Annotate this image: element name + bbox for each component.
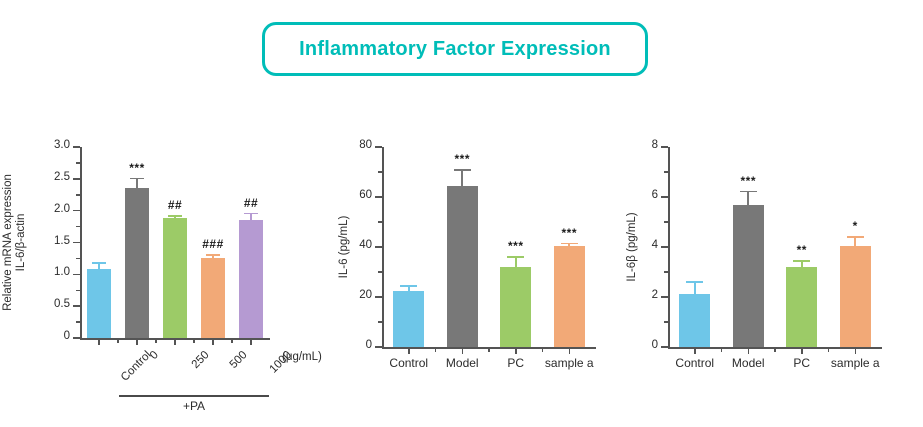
error-bar-cap xyxy=(168,215,181,217)
significance-marker: *** xyxy=(740,174,756,188)
chart-panel-il6-mrna: 00.51.01.52.02.53.0Control***0##250###50… xyxy=(18,130,318,420)
y-tick-minor xyxy=(664,171,668,173)
y-tick-minor xyxy=(76,162,80,164)
x-axis-unit-label: (μg/mL) xyxy=(282,351,322,363)
x-tick-minor xyxy=(117,339,119,343)
y-tick xyxy=(375,146,382,148)
y-tick xyxy=(661,346,668,348)
error-bar-cap xyxy=(92,262,105,264)
y-tick-minor xyxy=(76,321,80,323)
significance-marker: ## xyxy=(244,196,258,210)
error-bar-cap xyxy=(206,254,219,256)
y-tick xyxy=(661,196,668,198)
plot-area-3: 02468Control***Model**PC*sample aIL-6β (… xyxy=(668,147,882,347)
y-axis xyxy=(382,147,384,347)
x-tick xyxy=(462,348,464,354)
y-tick xyxy=(73,242,80,244)
plot-area-1: 00.51.01.52.02.53.0Control***0##250###50… xyxy=(80,147,270,338)
y-tick-minor xyxy=(378,221,382,223)
error-bar-cap xyxy=(847,236,864,238)
bar xyxy=(201,258,225,338)
error-bar-line xyxy=(694,281,696,294)
y-tick-minor xyxy=(378,271,382,273)
y-axis xyxy=(668,147,670,347)
significance-marker: *** xyxy=(129,161,145,175)
bar xyxy=(786,267,817,347)
y-tick xyxy=(661,246,668,248)
y-tick xyxy=(375,296,382,298)
x-tick xyxy=(212,339,214,345)
y-tick xyxy=(661,146,668,148)
x-tick-minor xyxy=(774,348,776,352)
y-tick-label: 1.5 xyxy=(22,235,70,247)
bar xyxy=(125,188,149,338)
x-axis-label: PC xyxy=(793,356,810,370)
y-axis-label-line2: IL-6/β-actin xyxy=(15,147,28,338)
y-tick xyxy=(73,337,80,339)
error-bar-cap xyxy=(244,213,257,215)
x-tick xyxy=(136,339,138,345)
group-bracket-line xyxy=(119,395,269,397)
y-tick xyxy=(73,274,80,276)
bar xyxy=(393,291,424,347)
significance-marker: * xyxy=(853,219,858,233)
x-axis-label: 500 xyxy=(228,349,250,371)
x-axis-label: sample a xyxy=(831,356,880,370)
error-bar-cap xyxy=(686,281,703,283)
x-tick-minor xyxy=(231,339,233,343)
error-bar-cap xyxy=(400,285,417,287)
x-axis-label: sample a xyxy=(545,356,594,370)
page-title: Inflammatory Factor Expression xyxy=(299,38,611,61)
x-tick xyxy=(569,348,571,354)
error-bar-line xyxy=(461,169,463,186)
x-tick xyxy=(515,348,517,354)
y-axis-label: IL-6 (pg/mL) xyxy=(338,147,350,347)
y-tick-label: 0.5 xyxy=(22,298,70,310)
y-axis-label: Relative mRNA expressionIL-6/β-actin xyxy=(2,147,28,338)
bar xyxy=(87,269,111,338)
x-axis-label: PC xyxy=(507,356,524,370)
y-tick xyxy=(375,196,382,198)
bar xyxy=(239,220,263,338)
y-tick-minor xyxy=(378,321,382,323)
significance-marker: ** xyxy=(797,243,807,257)
y-axis xyxy=(80,147,82,338)
y-tick xyxy=(375,246,382,248)
y-tick-label: 1.0 xyxy=(22,266,70,278)
y-tick xyxy=(73,305,80,307)
bar xyxy=(733,205,764,347)
y-axis-label-line1: Relative mRNA expression xyxy=(2,147,15,338)
x-tick-minor xyxy=(542,348,544,352)
x-axis-label: Model xyxy=(446,356,479,370)
x-tick xyxy=(174,339,176,345)
y-tick-minor xyxy=(76,290,80,292)
x-tick-minor xyxy=(193,339,195,343)
x-tick xyxy=(801,348,803,354)
y-tick-minor xyxy=(664,321,668,323)
y-tick-minor xyxy=(378,171,382,173)
significance-marker: ## xyxy=(168,198,182,212)
chart-panel-il6beta-protein: 02468Control***Model**PC*sample aIL-6β (… xyxy=(622,130,917,410)
plot-area-2: 020406080Control***Model***PC***sample a… xyxy=(382,147,596,347)
x-tick xyxy=(694,348,696,354)
x-tick-minor xyxy=(828,348,830,352)
x-tick xyxy=(855,348,857,354)
x-tick xyxy=(250,339,252,345)
title-banner: Inflammatory Factor Expression xyxy=(262,22,648,76)
error-bar-cap xyxy=(740,191,757,193)
y-tick xyxy=(73,178,80,180)
error-bar-cap xyxy=(454,169,471,171)
y-tick-minor xyxy=(76,226,80,228)
bar xyxy=(500,267,531,348)
error-bar-cap xyxy=(561,243,578,245)
y-tick-label: 0 xyxy=(22,330,70,342)
x-tick-minor xyxy=(155,339,157,343)
significance-marker: *** xyxy=(561,226,577,240)
x-axis-label: 250 xyxy=(190,349,212,371)
significance-marker: ### xyxy=(202,237,224,251)
y-tick xyxy=(73,210,80,212)
y-tick-minor xyxy=(664,221,668,223)
significance-marker: *** xyxy=(454,152,470,166)
y-tick-minor xyxy=(76,194,80,196)
group-label-pa: +PA xyxy=(183,399,205,413)
bar xyxy=(447,186,478,347)
y-axis-label: IL-6β (pg/mL) xyxy=(626,147,638,347)
bar xyxy=(840,246,871,348)
x-tick xyxy=(98,339,100,345)
x-tick-minor xyxy=(488,348,490,352)
y-tick xyxy=(375,346,382,348)
y-tick xyxy=(73,146,80,148)
bar xyxy=(163,218,187,338)
y-tick-minor xyxy=(664,271,668,273)
x-tick xyxy=(408,348,410,354)
x-axis-label: Model xyxy=(732,356,765,370)
significance-marker: *** xyxy=(508,239,524,253)
error-bar-cap xyxy=(130,178,143,180)
y-tick-label: 3.0 xyxy=(22,139,70,151)
y-tick-label: 2.0 xyxy=(22,203,70,215)
error-bar-line xyxy=(747,191,749,206)
y-tick-label: 2.5 xyxy=(22,171,70,183)
y-tick-minor xyxy=(76,258,80,260)
chart-panel-il6-protein: 020406080Control***Model***PC***sample a… xyxy=(330,130,620,410)
x-tick-minor xyxy=(435,348,437,352)
x-tick xyxy=(748,348,750,354)
x-tick-minor xyxy=(721,348,723,352)
bar xyxy=(554,246,585,347)
x-axis-label: Control xyxy=(389,356,428,370)
error-bar-cap xyxy=(507,256,524,258)
y-tick xyxy=(661,296,668,298)
x-axis-label: Control xyxy=(675,356,714,370)
bar xyxy=(679,294,710,348)
error-bar-cap xyxy=(793,260,810,262)
